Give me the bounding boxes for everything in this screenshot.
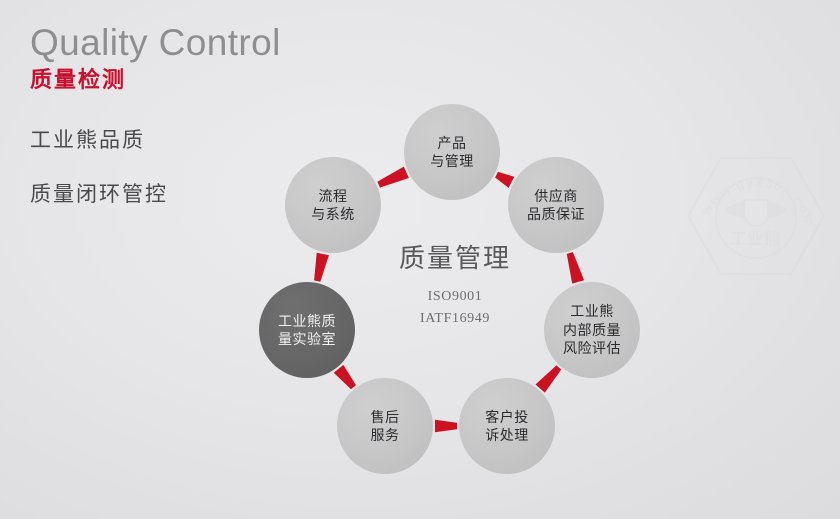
diagram-node-process-system[interactable]: 流程 与系统 [285,157,381,253]
watermark-shield-icon [744,200,768,226]
standard-iatf16949: IATF16949 [355,308,555,330]
diagram-node-label: 产品 与管理 [430,134,474,171]
center-standards: ISO9001 IATF16949 [355,286,555,329]
diagram-node-label: 流程 与系统 [311,187,355,224]
center-title: 质量管理 [355,243,555,274]
diagram-node-label: 工业熊质 量实验室 [278,312,336,349]
watermark-badge: www.gyx360.com 工业熊 [686,152,826,280]
diagram-node-internal-risk[interactable]: 工业熊 内部质量 风险评估 [544,282,640,378]
connector-quality-lab-to-process-system [314,253,329,282]
diagram-node-customer-complaint[interactable]: 客户投 诉处理 [459,378,555,474]
slide-canvas: Quality Control 质量检测 工业熊品质 质量闭环管控 产品 与管理… [0,0,840,519]
watermark-brand-text: 工业熊 [730,229,781,248]
diagram-node-product-management[interactable]: 产品 与管理 [404,104,500,200]
diagram-node-label: 售后 服务 [371,408,400,445]
page-title-english: Quality Control [30,22,330,63]
standard-iso9001: ISO9001 [355,286,555,308]
connector-after-sales-to-quality-lab [334,365,356,389]
diagram-node-after-sales[interactable]: 售后 服务 [337,378,433,474]
diagram-node-label: 供应商 品质保证 [527,187,585,224]
quality-cycle-diagram: 产品 与管理供应商 品质保证工业熊 内部质量 风险评估客户投 诉处理售后 服务工… [245,88,665,498]
diagram-node-label: 工业熊 内部质量 风险评估 [563,302,621,357]
diagram-node-quality-lab[interactable]: 工业熊质 量实验室 [259,282,355,378]
diagram-node-supplier-quality[interactable]: 供应商 品质保证 [508,157,604,253]
diagram-center-label: 质量管理 ISO9001 IATF16949 [355,243,555,330]
diagram-node-label: 客户投 诉处理 [485,408,529,445]
connector-internal-risk-to-customer-complaint [536,365,562,392]
connector-customer-complaint-to-after-sales [435,420,457,432]
connector-process-system-to-product-management [377,167,408,188]
connector-supplier-quality-to-internal-risk [567,252,584,284]
